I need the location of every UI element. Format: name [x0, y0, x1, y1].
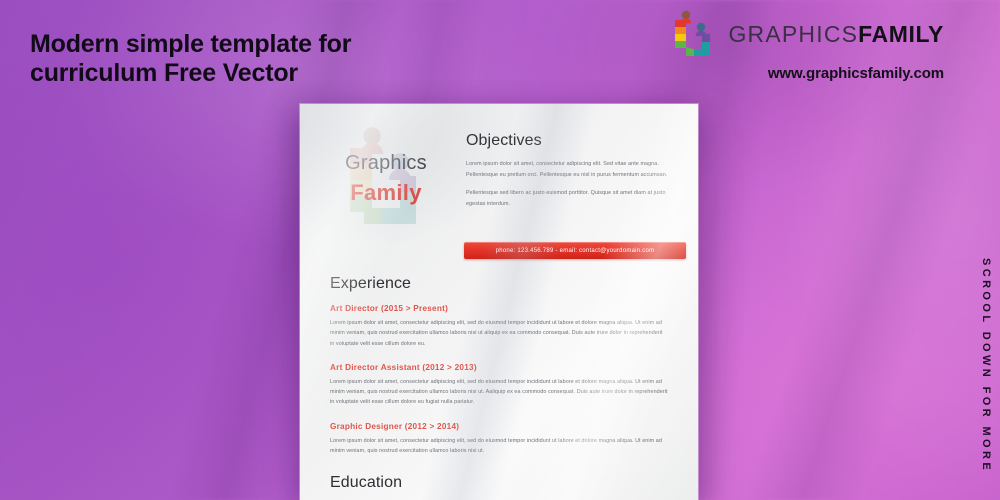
experience-entry: Graphic Designer (2012 > 2014) Lorem ips…: [330, 422, 668, 457]
page-title-line-1: Modern simple template for: [30, 30, 450, 59]
experience-section: Experience Art Director (2015 > Present)…: [316, 275, 674, 456]
education-section: Education High School Of Art (2010 > 201…: [316, 474, 674, 500]
resume-header-row: Graphics Family Objectives Lorem ipsum d…: [316, 124, 674, 228]
brand-wordmark: GRAPHICSFAMILY: [728, 23, 944, 46]
brand-word-family: FAMILY: [858, 21, 944, 47]
experience-entry-title: Graphic Designer (2012 > 2014): [330, 422, 668, 431]
objectives-section: Objectives Lorem ipsum dolor sit amet, c…: [466, 124, 674, 209]
page-title-line-2: curriculum Free Vector: [30, 59, 450, 88]
experience-entry: Art Director Assistant (2012 > 2013) Lor…: [330, 363, 668, 408]
experience-heading: Experience: [330, 275, 668, 293]
experience-entry-body: Lorem ipsum dolor sit amet, consectetur …: [330, 318, 668, 349]
experience-entry-title: Art Director (2015 > Present): [330, 304, 668, 313]
objectives-paragraph-1: Lorem ipsum dolor sit amet, consectetur …: [466, 159, 674, 180]
brand-row: GRAPHICSFAMILY: [673, 10, 944, 58]
resume-content: Graphics Family Objectives Lorem ipsum d…: [300, 104, 698, 500]
education-heading: Education: [330, 474, 668, 492]
brand-website-url[interactable]: www.graphicsfamily.com: [673, 65, 944, 82]
objectives-paragraph-2: Pellentesque sed libero ac justo euismod…: [466, 188, 674, 209]
brand-word-graphics: GRAPHICS: [728, 21, 858, 47]
contact-bar[interactable]: phone: 123.456.789 - email: contact@your…: [464, 242, 686, 259]
experience-entry-title: Art Director Assistant (2012 > 2013): [330, 363, 668, 372]
resume-watermark-text: Graphics Family: [316, 152, 456, 206]
experience-entry-body: Lorem ipsum dolor sit amet, consectetur …: [330, 436, 668, 457]
graphicsfamily-logo-icon: [673, 10, 719, 58]
watermark-line-family: Family: [316, 180, 456, 206]
experience-entry-body: Lorem ipsum dolor sit amet, consectetur …: [330, 377, 668, 408]
watermark-line-graphics: Graphics: [316, 152, 456, 174]
page-title: Modern simple template for curriculum Fr…: [30, 30, 450, 87]
contact-bar-text: phone: 123.456.789 - email: contact@your…: [496, 248, 655, 254]
experience-entry: Art Director (2015 > Present) Lorem ipsu…: [330, 304, 668, 349]
scroll-down-hint: SCROOL DOWN FOR MORE: [980, 258, 992, 473]
objectives-heading: Objectives: [466, 132, 674, 150]
resume-watermark-logo: Graphics Family: [316, 124, 456, 228]
resume-preview-document[interactable]: Graphics Family Objectives Lorem ipsum d…: [300, 104, 698, 500]
brand-lockup[interactable]: GRAPHICSFAMILY www.graphicsfamily.com: [673, 10, 944, 82]
